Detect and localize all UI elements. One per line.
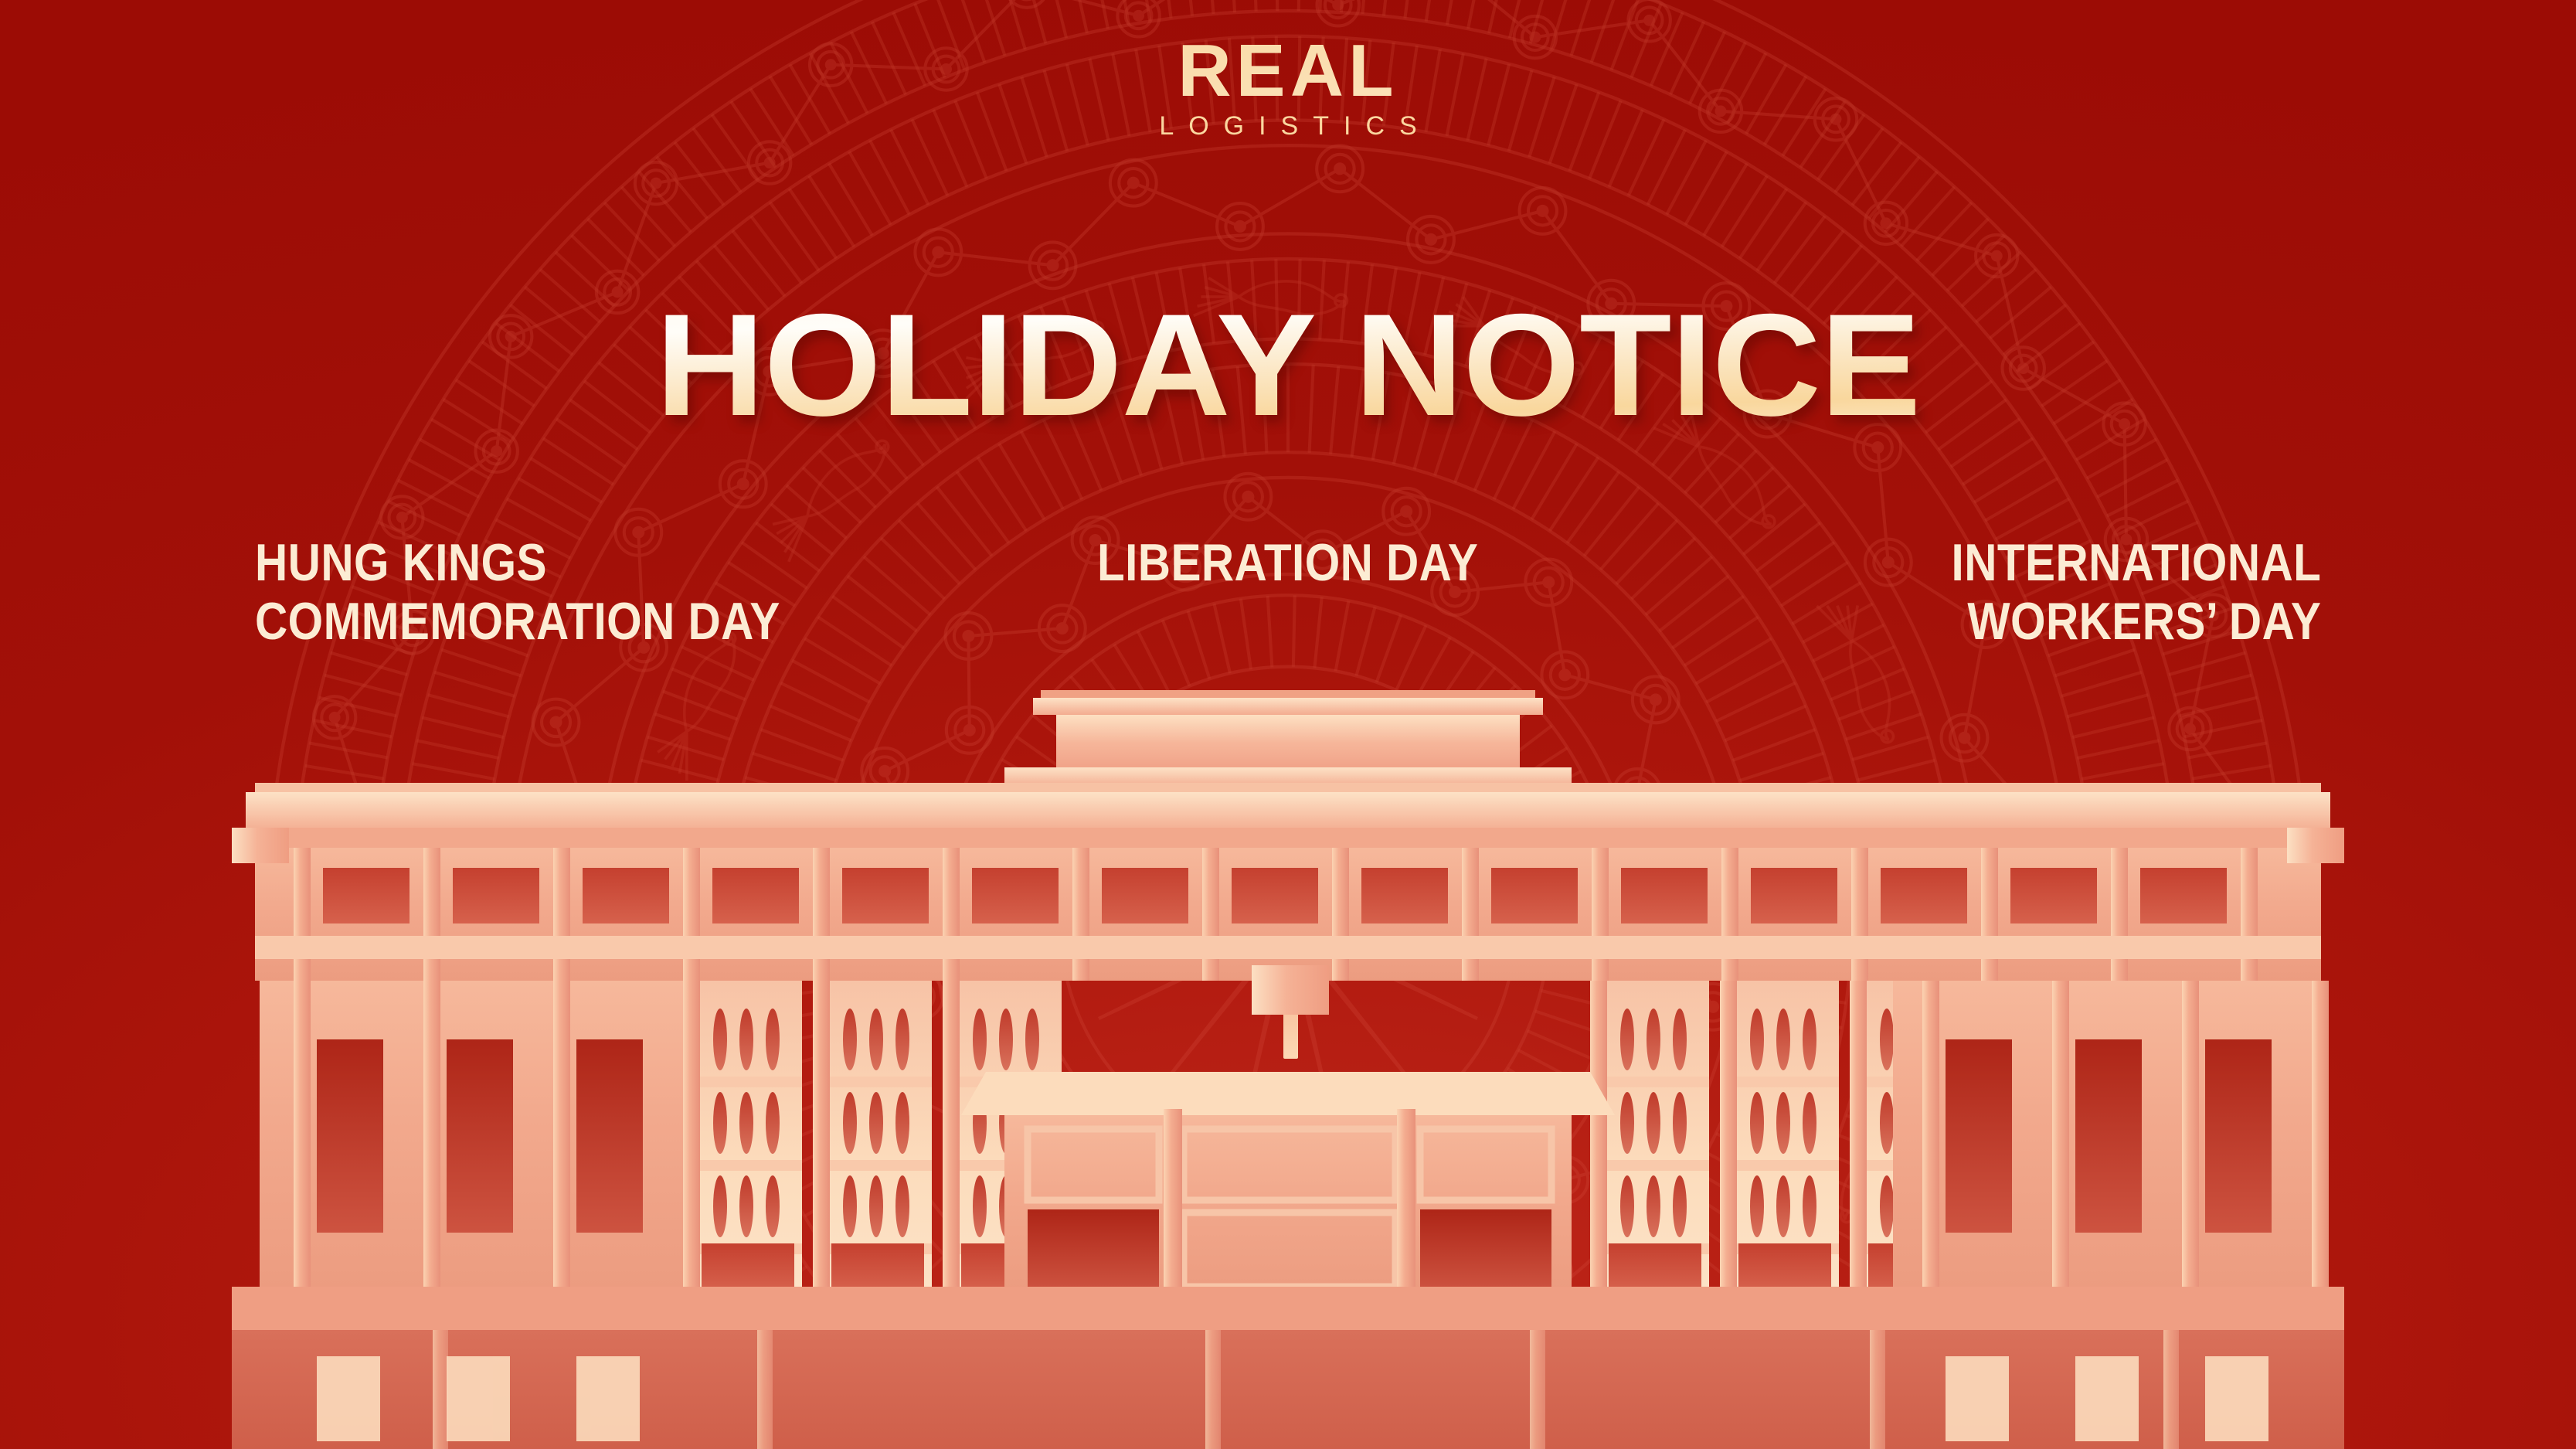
holiday-item-workers: INTERNATIONAL WORKERS’ DAY [1728, 533, 2321, 651]
holiday-item-liberation: LIBERATION DAY [992, 533, 1585, 592]
brand-tagline: LOGISTICS [0, 113, 2576, 139]
palace-second-floor [255, 848, 2321, 981]
holiday-notice-banner: REAL LOGISTICS HOLIDAY NOTICE HUNG KINGS… [0, 0, 2576, 1449]
page-title-text: HOLIDAY NOTICE [656, 292, 1921, 437]
palace-plinth [232, 1287, 2344, 1449]
palace-upper-windows [323, 868, 2227, 923]
palace-roof [232, 783, 2344, 849]
independence-palace-illustration [0, 676, 2576, 1449]
brand-logo: REAL LOGISTICS [0, 34, 2576, 139]
palace-central-portico [961, 1072, 1615, 1290]
page-title: HOLIDAY NOTICE [0, 292, 2576, 437]
palace-upper-block [1004, 690, 1572, 787]
palace-flag-pedestal [1252, 965, 1329, 1015]
holiday-item-hung-kings: HUNG KINGS COMMEMORATION DAY [255, 533, 848, 651]
holiday-list: HUNG KINGS COMMEMORATION DAY LIBERATION … [0, 533, 2576, 651]
brand-name: REAL [0, 34, 2576, 108]
